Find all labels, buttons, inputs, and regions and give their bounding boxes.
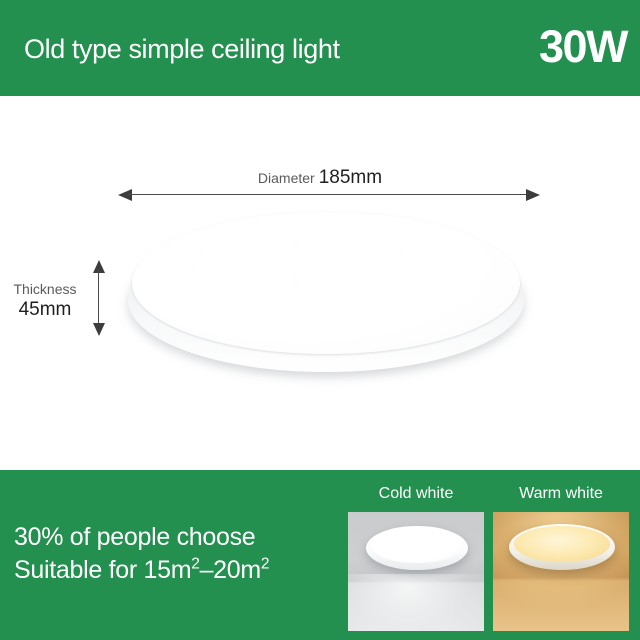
footer-copy: 30% of people choose Suitable for 15m2–2… <box>14 521 344 587</box>
diameter-value: 185mm <box>319 167 382 188</box>
lamp-thumbnail <box>509 524 615 570</box>
wattage-badge: 30W <box>539 22 627 72</box>
thickness-value: 45mm <box>0 298 90 321</box>
footer-band: 30% of people choose Suitable for 15m2–2… <box>0 470 640 640</box>
sample-photo <box>348 512 484 631</box>
coverage-sup-first: 2 <box>191 556 199 573</box>
arrow-right-icon <box>526 189 540 201</box>
sample-caption: Warm white <box>493 483 629 504</box>
thickness-dimension-line <box>93 260 105 336</box>
dimension-rule <box>98 270 99 326</box>
arrow-up-icon <box>93 260 105 273</box>
product-stage: Diameter185mm Thickness 45mm <box>0 96 640 470</box>
ceiling-light-illustration <box>126 204 526 384</box>
header-band: Old type simple ceiling light 30W <box>0 0 640 96</box>
lamp-highlight <box>170 224 420 298</box>
coverage-prefix: Suitable for 15m <box>14 556 191 584</box>
arrow-left-icon <box>118 189 132 201</box>
dimension-rule <box>128 194 530 195</box>
page-title: Old type simple ceiling light <box>24 33 340 65</box>
sample-warm-white[interactable]: Warm white <box>493 483 629 631</box>
lamp-thumbnail <box>366 526 468 570</box>
coverage-sup-second: 2 <box>261 556 269 573</box>
sample-photo <box>493 512 629 631</box>
color-temperature-samples: Cold white Warm white <box>348 483 629 631</box>
coverage-mid: –20m <box>200 556 261 584</box>
footer-line-popularity: 30% of people choose <box>14 521 344 554</box>
footer-line-coverage: Suitable for 15m2–20m2 <box>14 554 344 587</box>
diameter-dimension-line <box>118 189 540 201</box>
diameter-label: Diameter <box>258 170 315 186</box>
sample-cold-white[interactable]: Cold white <box>348 483 484 631</box>
arrow-down-icon <box>93 323 105 336</box>
diameter-label-group: Diameter185mm <box>0 167 640 189</box>
thickness-label-group: Thickness 45mm <box>0 280 90 321</box>
sample-caption: Cold white <box>348 483 484 504</box>
product-infographic: Old type simple ceiling light 30W Diamet… <box>0 0 640 640</box>
thickness-label: Thickness <box>0 280 90 298</box>
